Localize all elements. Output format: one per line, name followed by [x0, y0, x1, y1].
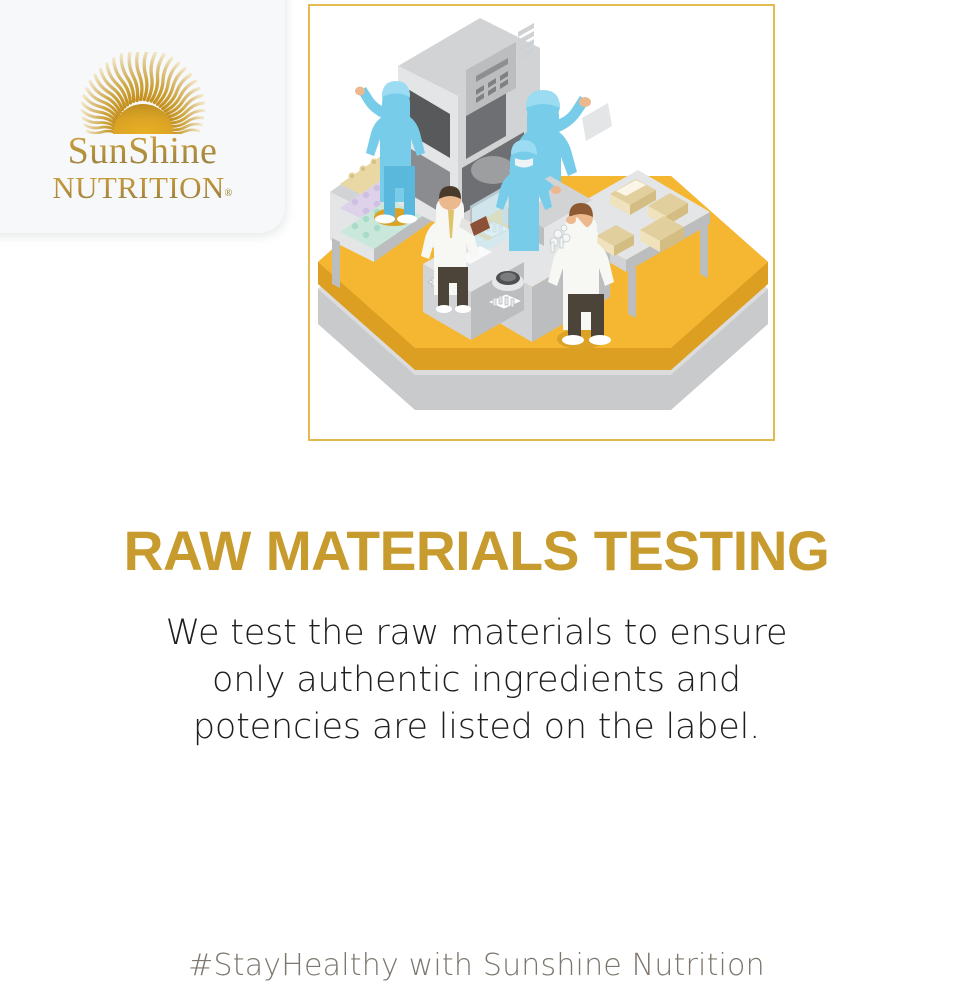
brand-wordmark-line2: NUTRITION®: [0, 172, 285, 203]
sunburst-icon: [38, 52, 248, 134]
trademark-icon: ®: [225, 188, 233, 199]
description-line-2: only authentic ingredients and: [0, 657, 953, 704]
illustration-frame: .plat { fill:#f5b731; } .plate { fill:#d…: [308, 4, 775, 441]
description-line-1: We test the raw materials to ensure: [0, 610, 953, 657]
brand-logo-inner: SunShine NUTRITION®: [0, 0, 285, 233]
description-text: We test the raw materials to ensure only…: [0, 610, 953, 751]
isometric-lab-testing-illustration: .plat { fill:#f5b731; } .plate { fill:#d…: [310, 6, 773, 439]
brand-logo-card: SunShine NUTRITION®: [0, 0, 285, 233]
page-title: RAW MATERIALS TESTING: [7, 518, 946, 583]
description-line-3: potencies are listed on the label.: [0, 704, 953, 751]
footer-tagline: #StayHealthy with Sunshine Nutrition: [0, 948, 953, 983]
brand-wordmark: SunShine NUTRITION®: [0, 132, 285, 203]
brand-wordmark-line1: SunShine: [0, 132, 285, 170]
